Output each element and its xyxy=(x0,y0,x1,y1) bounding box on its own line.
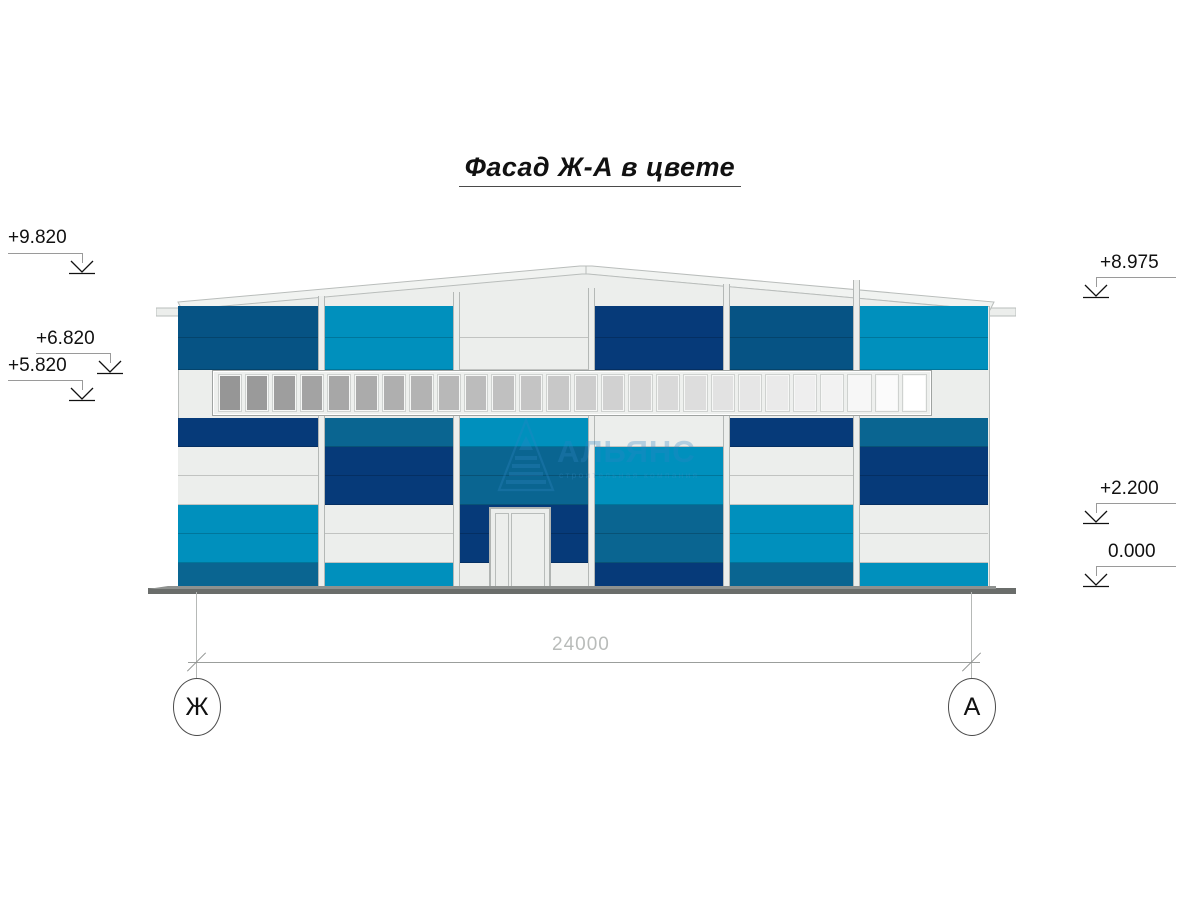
window-pane-25[interactable] xyxy=(875,374,899,412)
mullion-1 xyxy=(318,296,325,592)
ribbon-window-strip[interactable] xyxy=(212,370,932,416)
window-pane-21[interactable] xyxy=(765,374,789,412)
axis-bubble-a[interactable]: А xyxy=(948,678,996,736)
elevation-leader-8975 xyxy=(1096,277,1176,278)
drawing-canvas: Фасад Ж-А в цвете +9.820 +9.820 +6.820 +… xyxy=(0,0,1200,900)
window-pane-4[interactable] xyxy=(300,374,324,412)
elevation-leader-6820 xyxy=(36,353,111,354)
ground-taper-left xyxy=(148,586,168,589)
axis-bubble-zh[interactable]: Ж xyxy=(173,678,221,736)
window-pane-24[interactable] xyxy=(847,374,871,412)
window-pane-17[interactable] xyxy=(656,374,680,412)
window-pane-3[interactable] xyxy=(272,374,296,412)
window-pane-10[interactable] xyxy=(464,374,488,412)
elevation-mark-0000-label: 0.000 xyxy=(1108,541,1156,563)
elevation-leader-5820 xyxy=(8,380,83,381)
elevation-leader-9820 xyxy=(8,253,83,254)
axis-bubble-zh-label: Ж xyxy=(185,693,208,722)
dimension-value: 24000 xyxy=(552,634,610,656)
window-pane-16[interactable] xyxy=(628,374,652,412)
mullion-2 xyxy=(453,292,460,592)
window-pane-22[interactable] xyxy=(793,374,817,412)
door-leaf-left[interactable] xyxy=(495,513,509,587)
window-pane-23[interactable] xyxy=(820,374,844,412)
elevation-arrow-8975 xyxy=(1083,284,1109,299)
elevation-mark-8975-label: +8.975 xyxy=(1100,252,1159,274)
elevation-arrow-9820 xyxy=(69,260,95,275)
entrance-door[interactable] xyxy=(489,507,551,591)
building-elevation xyxy=(178,262,990,592)
window-pane-14[interactable] xyxy=(574,374,598,412)
window-pane-13[interactable] xyxy=(546,374,570,412)
window-pane-12[interactable] xyxy=(519,374,543,412)
elevation-leader-2200 xyxy=(1096,503,1176,504)
window-pane-6[interactable] xyxy=(354,374,378,412)
mullion-3 xyxy=(588,288,595,592)
window-pane-7[interactable] xyxy=(382,374,406,412)
elevation-mark-9820-label: +9.820 xyxy=(8,227,67,249)
page-title-text: Фасад Ж-А в цвете xyxy=(459,152,741,187)
window-pane-2[interactable] xyxy=(245,374,269,412)
mullion-4 xyxy=(723,284,730,592)
window-pane-11[interactable] xyxy=(491,374,515,412)
ground-line-shadow xyxy=(168,586,996,589)
elevation-mark-6820-label: +6.820 xyxy=(36,328,95,350)
dimension-line xyxy=(188,662,980,663)
window-pane-5[interactable] xyxy=(327,374,351,412)
elevation-arrow-5820 xyxy=(69,387,95,402)
elevation-arrow-2200 xyxy=(1083,510,1109,525)
elevation-mark-9820: +9.820 xyxy=(8,228,86,252)
window-pane-15[interactable] xyxy=(601,374,625,412)
elevation-leader-0000 xyxy=(1096,566,1176,567)
window-pane-20[interactable] xyxy=(738,374,762,412)
window-pane-19[interactable] xyxy=(711,374,735,412)
elevation-mark-2200-label: +2.200 xyxy=(1100,478,1159,500)
axis-bubble-a-label: А xyxy=(964,693,981,722)
mullion-5 xyxy=(853,280,860,592)
page-title: Фасад Ж-А в цвете xyxy=(0,152,1200,187)
window-pane-9[interactable] xyxy=(437,374,461,412)
elevation-arrow-0000 xyxy=(1083,573,1109,588)
elevation-arrow-6820 xyxy=(97,360,123,375)
window-pane-18[interactable] xyxy=(683,374,707,412)
elevation-mark-5820-label: +5.820 xyxy=(8,355,67,377)
window-pane-1[interactable] xyxy=(218,374,242,412)
window-pane-26[interactable] xyxy=(902,374,926,412)
door-leaf-right[interactable] xyxy=(511,513,545,587)
window-pane-8[interactable] xyxy=(409,374,433,412)
mullion-group xyxy=(178,262,990,592)
